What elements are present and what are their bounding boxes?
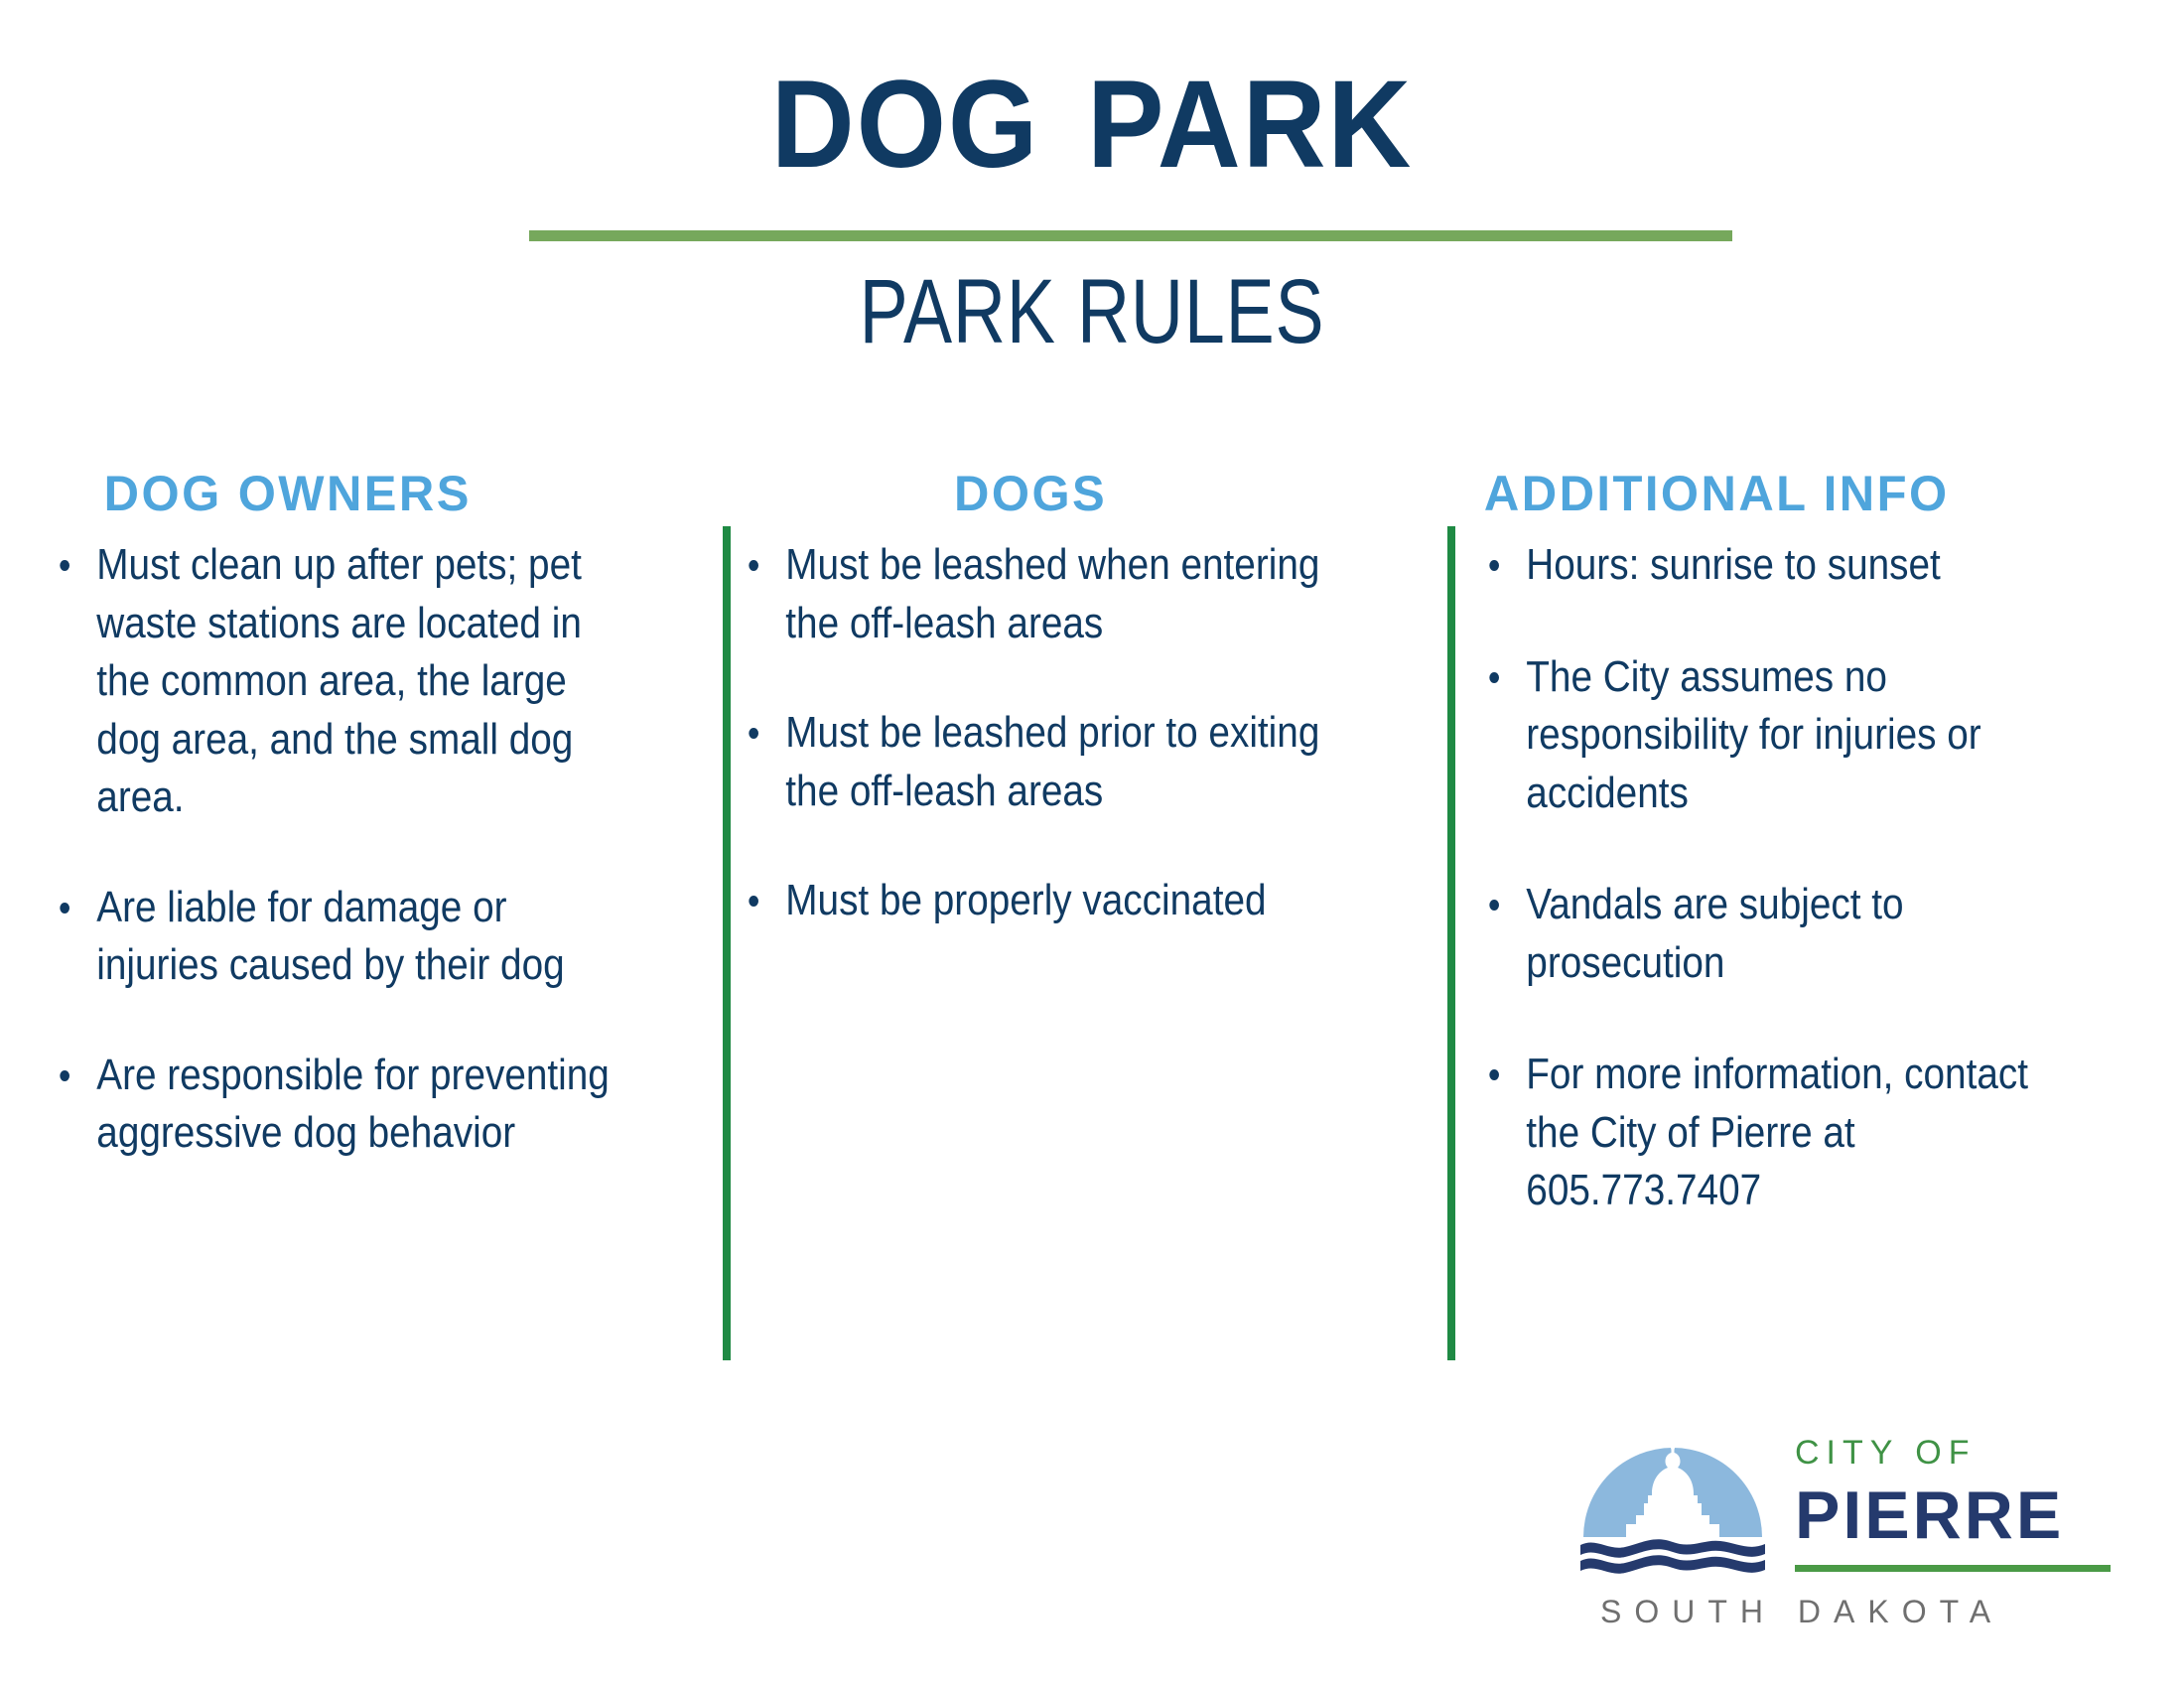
list-item: The City assumes no responsibility for i… bbox=[1477, 648, 2080, 823]
city-of-pierre-logo: CITY OF PIERRE SOUTH DAKOTA bbox=[1578, 1430, 2154, 1638]
page-title: Dog Park bbox=[76, 18, 2108, 195]
logo-wordmark: CITY OF PIERRE bbox=[1795, 1436, 2142, 1572]
list-item: Must be properly vaccinated bbox=[737, 872, 1348, 930]
title-block: Dog Park bbox=[0, 18, 2184, 195]
column-heading-dogs: DOGS bbox=[744, 465, 1425, 522]
list-item: Are liable for damage or injuries caused… bbox=[48, 879, 624, 995]
rules-column-dog-owners: DOG OWNERS Must clean up after pets; pet… bbox=[48, 465, 703, 1214]
list-item: Are responsible for preventing aggressiv… bbox=[48, 1047, 624, 1163]
title-divider-rule bbox=[529, 230, 1732, 241]
page-subtitle: PARK RULES bbox=[218, 260, 1966, 364]
capitol-dome-icon bbox=[1578, 1430, 1767, 1574]
poster-canvas: Dog Park PARK RULES DOG OWNERS Must clea… bbox=[0, 0, 2184, 1688]
rules-list-dog-owners: Must clean up after pets; pet waste stat… bbox=[48, 536, 703, 1163]
logo-pierre-text: PIERRE bbox=[1795, 1481, 2142, 1549]
logo-city-of-text: CITY OF bbox=[1795, 1436, 2142, 1470]
logo-underline-rule bbox=[1795, 1565, 2111, 1572]
list-item: Must be leashed when entering the off-le… bbox=[737, 536, 1348, 652]
rules-column-dogs: DOGS Must be leashed when entering the o… bbox=[737, 465, 1432, 982]
list-item: Hours: sunrise to sunset bbox=[1477, 536, 2080, 595]
rules-column-additional-info: ADDITIONAL INFO Hours: sunrise to sunset… bbox=[1477, 465, 2162, 1274]
list-item: Must be leashed prior to exiting the off… bbox=[737, 704, 1348, 820]
column-heading-dog-owners: DOG OWNERS bbox=[55, 465, 697, 522]
column-heading-additional-info: ADDITIONAL INFO bbox=[1484, 465, 2155, 522]
list-item: For more information, contact the City o… bbox=[1477, 1046, 2080, 1220]
rules-columns: DOG OWNERS Must clean up after pets; pet… bbox=[0, 465, 2184, 1408]
list-item: Vandals are subject to prosecution bbox=[1477, 876, 2080, 992]
list-item: Must clean up after pets; pet waste stat… bbox=[48, 536, 624, 827]
rules-list-dogs: Must be leashed when entering the off-le… bbox=[737, 536, 1432, 930]
logo-state-text: SOUTH DAKOTA bbox=[1600, 1594, 2003, 1630]
rules-list-additional-info: Hours: sunrise to sunset The City assume… bbox=[1477, 536, 2162, 1220]
